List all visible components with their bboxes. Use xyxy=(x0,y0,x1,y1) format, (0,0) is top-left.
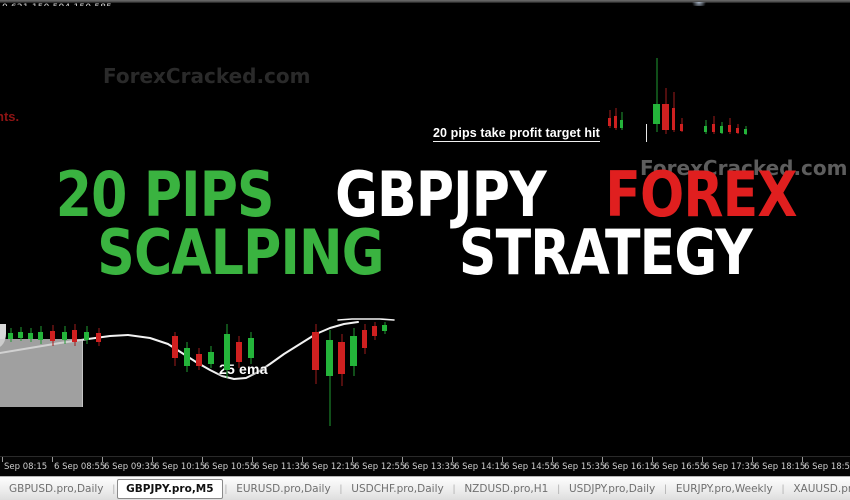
candle-body xyxy=(662,104,669,130)
tab-separator: | xyxy=(113,484,116,495)
chart-tab-eurusd[interactable]: EURUSD.pro,Daily xyxy=(227,478,339,500)
title-space xyxy=(412,224,429,282)
take-profit-marker xyxy=(646,124,647,142)
chart-tab-gbpusd[interactable]: GBPUSD.pro,Daily xyxy=(0,478,113,500)
candle-body xyxy=(672,108,675,130)
candle-body xyxy=(72,330,77,342)
chart-tab-eurjpy[interactable]: EURJPY.pro,Weekly xyxy=(667,478,782,500)
axis-tick-label: 6 Sep 10:55 xyxy=(204,462,255,472)
candlestick xyxy=(50,306,55,466)
watermark-top-left: ForexCracked.com xyxy=(103,64,311,88)
axis-tick xyxy=(2,457,3,462)
candle-body xyxy=(38,332,43,340)
axis-tick-label: 6 Sep 12:15 xyxy=(304,462,355,472)
candlestick xyxy=(312,306,319,466)
axis-tick xyxy=(752,457,753,462)
axis-tick-label: Sep 08:15 xyxy=(4,462,47,472)
candlestick xyxy=(326,306,333,466)
candle-body xyxy=(608,118,611,126)
candle-body xyxy=(680,124,683,131)
edge-text-fragment: nts. xyxy=(0,109,19,124)
lower-candle-series: 25 ema xyxy=(0,306,850,466)
candlestick xyxy=(184,306,190,466)
candle-body xyxy=(62,332,67,340)
axis-tick xyxy=(252,457,253,462)
title-l2-word-1: STRATEGY xyxy=(459,224,752,282)
chart-tab-gbpjpy[interactable]: GBPJPY.pro,M5 xyxy=(117,479,222,499)
axis-tick xyxy=(602,457,603,462)
axis-tick xyxy=(202,457,203,462)
candle-body xyxy=(236,342,242,362)
candlestick xyxy=(8,306,13,466)
candle-body xyxy=(172,336,178,358)
axis-tick-label: 6 Sep 09:35 xyxy=(104,462,155,472)
candlestick xyxy=(96,306,101,466)
candle-body xyxy=(50,331,55,341)
axis-tick-label: 6 Sep 17:35 xyxy=(704,462,755,472)
axis-tick xyxy=(502,457,503,462)
candle-body xyxy=(28,333,33,339)
candlestick xyxy=(28,306,33,466)
axis-tick xyxy=(452,457,453,462)
candle-body xyxy=(248,338,254,358)
title-l2-word-0: SCALPING xyxy=(97,224,383,282)
candlestick xyxy=(208,306,214,466)
candlestick xyxy=(362,306,367,466)
candle-body xyxy=(744,129,747,134)
candlestick xyxy=(172,306,178,466)
candle-body xyxy=(208,352,214,364)
candle-body xyxy=(712,124,715,132)
axis-tick-label: 6 Sep 12:55 xyxy=(354,462,405,472)
candle-body xyxy=(18,332,23,338)
axis-tick-label: 6 Sep 15:35 xyxy=(554,462,605,472)
axis-tick xyxy=(52,457,53,462)
candle-body xyxy=(736,128,739,133)
axis-tick-label: 6 Sep 18:55 xyxy=(804,462,850,472)
axis-tick-label: 6 Sep 11:35 xyxy=(254,462,305,472)
candlestick xyxy=(236,306,242,466)
title-line-2: SCALPING STRATEGY xyxy=(0,224,850,282)
candlestick xyxy=(224,306,230,466)
candle-body xyxy=(614,116,617,128)
chart-tab-nzdusd[interactable]: NZDUSD.pro,H1 xyxy=(455,478,557,500)
chart-canvas[interactable]: 20 pips take profit target hit 25 ema Fo… xyxy=(0,6,850,456)
candlestick xyxy=(372,306,377,466)
candle-body xyxy=(653,104,660,124)
candle-body xyxy=(350,336,357,366)
axis-tick xyxy=(402,457,403,462)
chart-tab-usdchf[interactable]: USDCHF.pro,Daily xyxy=(342,478,452,500)
axis-tick-label: 6 Sep 13:35 xyxy=(404,462,455,472)
take-profit-annotation: 20 pips take profit target hit xyxy=(433,126,600,142)
axis-tick-label: 6 Sep 18:15 xyxy=(754,462,805,472)
take-profit-label: 20 pips take profit target hit xyxy=(433,126,600,142)
candle-body xyxy=(184,348,190,366)
candle-body xyxy=(620,120,623,128)
chart-tab-usdjpy[interactable]: USDJPY.pro,Daily xyxy=(560,478,664,500)
candle-body xyxy=(224,334,230,370)
mt4-chart-window: 0.621 150.594 150.585 20 pips take profi… xyxy=(0,0,850,500)
axis-tick-label: 6 Sep 16:15 xyxy=(604,462,655,472)
candle-body xyxy=(196,354,202,366)
chart-tab-bar[interactable]: GBPUSD.pro,Daily|GBPJPY.pro,M5|EURUSD.pr… xyxy=(0,476,850,500)
axis-tick-label: 6 Sep 16:55 xyxy=(654,462,705,472)
candlestick xyxy=(84,306,89,466)
window-title-bar xyxy=(0,0,850,3)
candlestick xyxy=(72,306,77,466)
candle-body xyxy=(312,332,319,370)
axis-tick-label: 6 Sep 10:15 xyxy=(154,462,205,472)
candlestick xyxy=(338,306,345,466)
axis-tick xyxy=(352,457,353,462)
candle-body xyxy=(362,330,367,348)
axis-tick xyxy=(652,457,653,462)
candlestick xyxy=(382,306,387,466)
candlestick xyxy=(248,306,254,466)
axis-tick-label: 6 Sep 14:15 xyxy=(454,462,505,472)
chart-tab-xauusd[interactable]: XAUUSD.pro,Weekly xyxy=(784,478,850,500)
candle-body xyxy=(338,342,345,374)
candlestick xyxy=(196,306,202,466)
axis-tick xyxy=(702,457,703,462)
candle-body xyxy=(720,126,723,133)
candle-body xyxy=(8,333,13,339)
candle-body xyxy=(372,326,377,336)
page-title: 20 PIPS GBPJPY FOREX SCALPING STRATEGY xyxy=(0,166,850,281)
candlestick xyxy=(350,306,357,466)
candle-body xyxy=(382,325,387,331)
upper-candle-cluster xyxy=(600,46,850,166)
candle-body xyxy=(704,126,707,132)
axis-tick-label: 6 Sep 08:55 xyxy=(54,462,105,472)
axis-tick xyxy=(552,457,553,462)
axis-tick-label: 6 Sep 14:55 xyxy=(504,462,555,472)
candle-body xyxy=(96,333,101,342)
axis-tick xyxy=(152,457,153,462)
candle-body xyxy=(728,125,731,132)
candlestick xyxy=(38,306,43,466)
candle-body xyxy=(84,332,89,340)
axis-tick xyxy=(302,457,303,462)
candlestick xyxy=(18,306,23,466)
axis-tick xyxy=(102,457,103,462)
candlestick xyxy=(62,306,67,466)
time-axis: Sep 08:156 Sep 08:556 Sep 09:356 Sep 10:… xyxy=(0,456,850,477)
candle-body xyxy=(326,340,333,376)
axis-tick xyxy=(802,457,803,462)
